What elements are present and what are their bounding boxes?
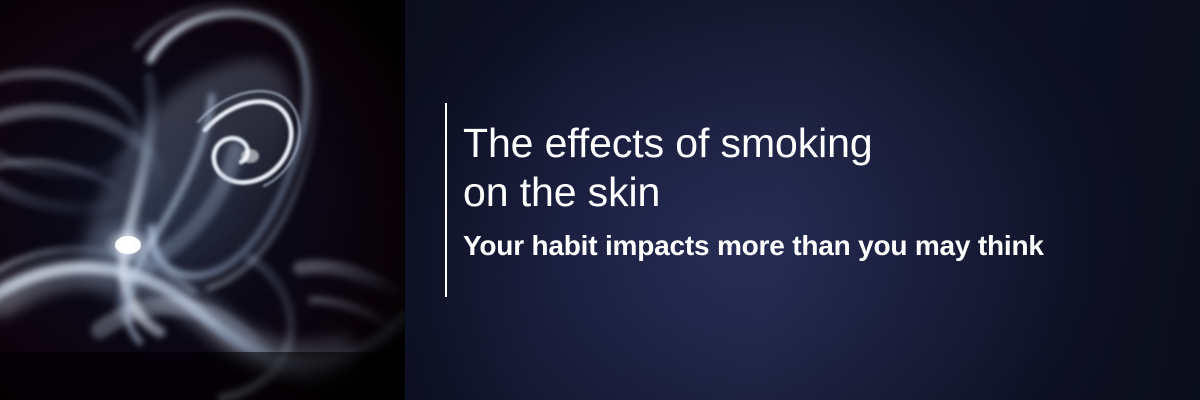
smoke-photo: [0, 0, 405, 400]
banner-subheadline: Your habit impacts more than you may thi…: [463, 217, 1044, 263]
smoke-illustration: [0, 0, 405, 400]
banner-text-block: The effects of smoking on the skin Your …: [445, 103, 1044, 297]
banner-headline: The effects of smoking on the skin: [463, 103, 1044, 217]
promo-banner: The effects of smoking on the skin Your …: [0, 0, 1200, 400]
